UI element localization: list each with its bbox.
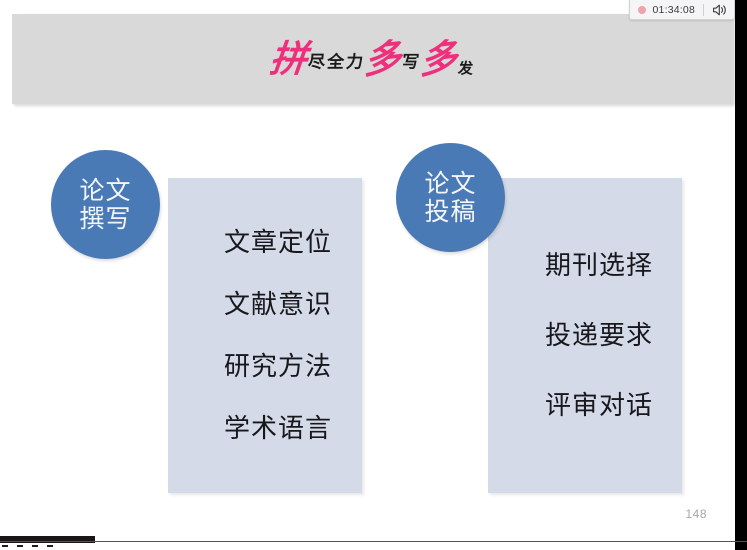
list-item: 文献意识 [198, 292, 332, 318]
slide-title-banner: 拼尽全力多写多发 [12, 14, 733, 104]
circle-badge-paper-submission: 论文 投稿 [396, 143, 505, 252]
taskbar-tick [2, 545, 8, 547]
taskbar-tick [17, 545, 23, 547]
title-char-pin: 拼 [269, 41, 310, 78]
title-char-fa: 发 [458, 62, 474, 77]
list-item: 学术语言 [198, 416, 332, 442]
record-dot-icon[interactable] [638, 6, 646, 14]
list-item: 文章定位 [198, 230, 332, 256]
slide-title-text: 拼尽全力多写多发 [12, 41, 733, 78]
circle-badge-paper-writing: 论文 撰写 [51, 150, 160, 259]
slide-page-number: 148 [685, 507, 707, 521]
title-char-xie: 写 [402, 55, 420, 72]
title-char-duo-2: 多 [420, 38, 458, 79]
taskbar-tick [47, 545, 53, 547]
title-char-duo-1: 多 [364, 38, 402, 79]
list-item: 期刊选择 [517, 253, 653, 279]
circle-label-line-2: 撰写 [79, 205, 131, 233]
title-char-li: 力 [346, 55, 364, 72]
content-box-paper-submission: 期刊选择 投递要求 评审对话 [488, 178, 682, 493]
circle-label-line-1: 论文 [79, 177, 131, 205]
title-char-quan: 全 [327, 55, 345, 72]
toolbar-divider [703, 4, 704, 16]
title-char-jin: 尽 [308, 55, 326, 72]
speaker-icon[interactable] [712, 3, 728, 17]
list-item: 投递要求 [517, 323, 653, 349]
recording-toolbar[interactable]: 01:34:08 [629, 0, 735, 20]
recording-elapsed-time: 01:34:08 [653, 4, 695, 16]
right-black-gutter [735, 0, 747, 550]
taskbar-tick [32, 545, 38, 547]
circle-label-line-2: 投稿 [424, 198, 476, 226]
taskbar-tick-marks [2, 544, 92, 548]
screen-root: 拼尽全力多写多发 文章定位 文献意识 研究方法 学术语言 期刊选择 投递要求 评… [0, 0, 747, 550]
content-box-paper-writing: 文章定位 文献意识 研究方法 学术语言 [168, 178, 362, 493]
circle-label-line-1: 论文 [424, 170, 476, 198]
list-item: 评审对话 [517, 393, 653, 419]
bottom-divider-rule [0, 541, 747, 542]
presentation-slide: 拼尽全力多写多发 文章定位 文献意识 研究方法 学术语言 期刊选择 投递要求 评… [0, 0, 735, 537]
list-item: 研究方法 [198, 354, 332, 380]
